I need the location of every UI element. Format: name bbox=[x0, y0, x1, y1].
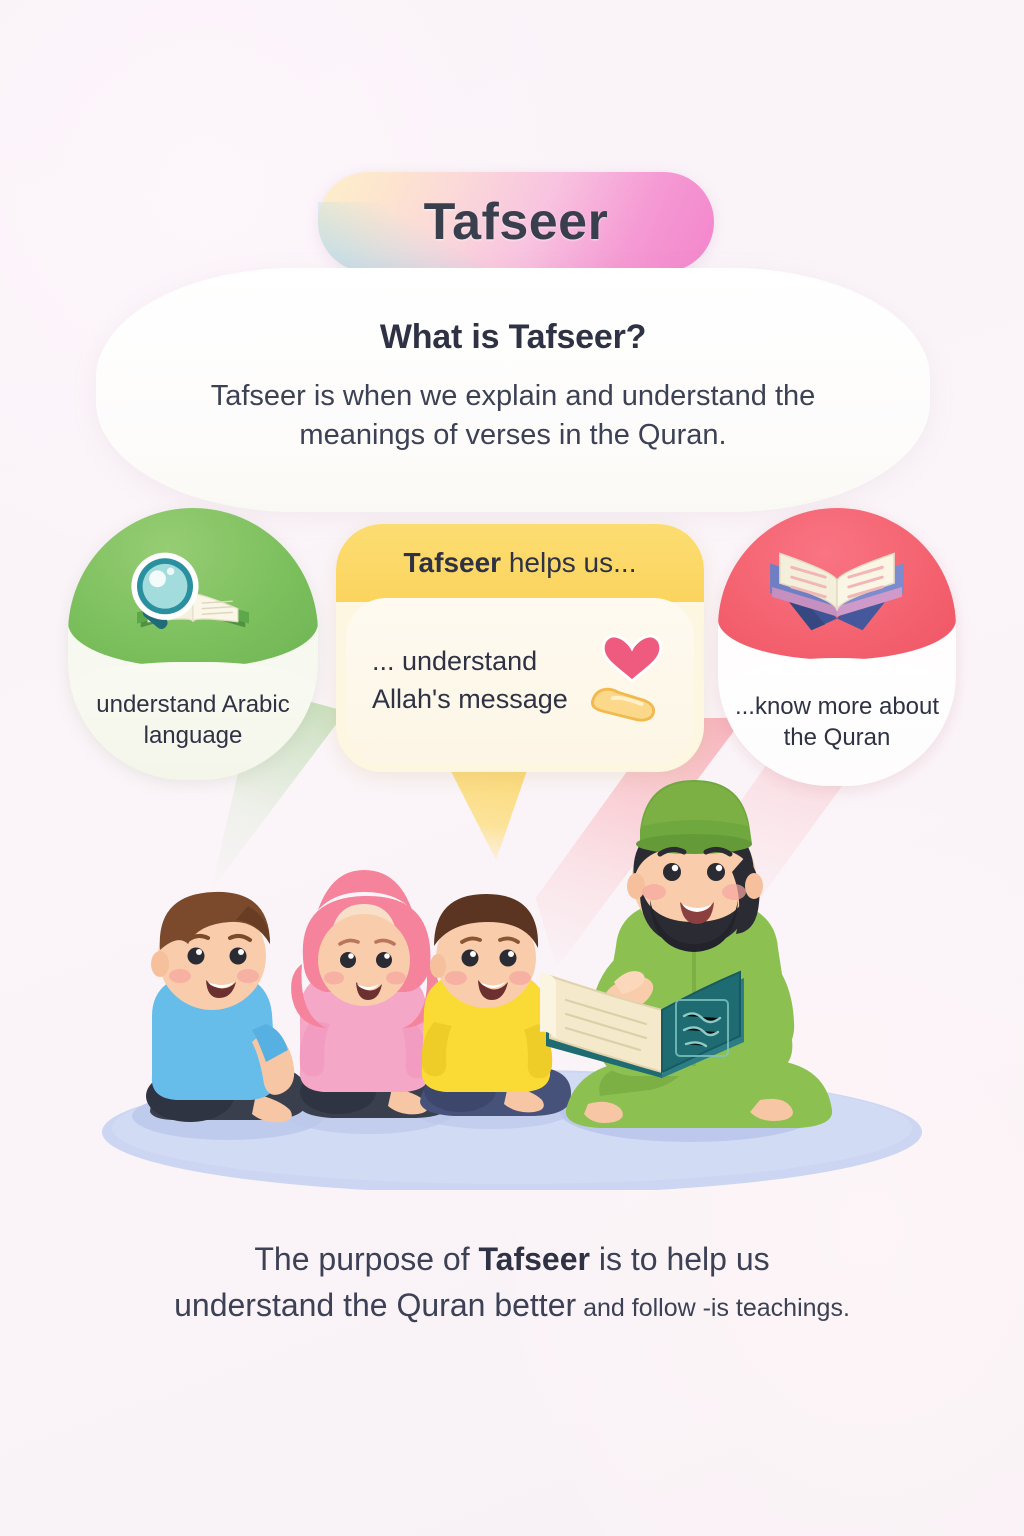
footer-line-2-main: understand the Quran better bbox=[174, 1287, 576, 1323]
card-allahs-message-header-text: Tafseer helps us... bbox=[404, 547, 637, 579]
card-arabic-language-label: understand Arabic language bbox=[68, 690, 318, 751]
card-know-the-quran-label: ...know more about the Quran bbox=[718, 691, 956, 753]
card-allahs-message[interactable]: Tafseer helps us... ... understand Allah… bbox=[336, 524, 704, 772]
poster-canvas: Tafseer What is Tafseer? Tafseer is when… bbox=[0, 0, 1024, 1536]
card-allahs-message-header: Tafseer helps us... bbox=[336, 524, 704, 602]
card-allahs-message-body: ... understand Allah's message bbox=[346, 598, 694, 764]
footer-line-2: understand the Quran better and follow -… bbox=[80, 1282, 944, 1328]
footer-pre: The purpose of bbox=[254, 1241, 478, 1277]
card-arabic-language[interactable]: understand Arabic language bbox=[68, 508, 318, 780]
footer-post: is to help us bbox=[590, 1241, 770, 1277]
header-rest: helps us... bbox=[501, 547, 636, 578]
intro-heading: What is Tafseer? bbox=[380, 318, 646, 357]
footer-line-1: The purpose of Tafseer is to help us bbox=[80, 1236, 944, 1282]
footer-caption: The purpose of Tafseer is to help us und… bbox=[80, 1236, 944, 1329]
open-quran-on-rehal-icon bbox=[748, 524, 926, 648]
card-allahs-message-label: ... understand Allah's message bbox=[372, 643, 584, 719]
page-title: Tafseer bbox=[424, 192, 609, 252]
illustration-teacher-and-children bbox=[0, 760, 1024, 1190]
magnifying-glass-book-icon bbox=[94, 534, 292, 646]
intro-body: Tafseer is when we explain and understan… bbox=[173, 377, 853, 455]
card-know-the-quran[interactable]: ...know more about the Quran bbox=[718, 508, 956, 786]
card-know-the-quran-top bbox=[718, 508, 956, 660]
header-bold-word: Tafseer bbox=[404, 547, 502, 578]
figure-boy-blue-shirt bbox=[146, 892, 307, 1122]
title-banner: Tafseer bbox=[318, 172, 714, 272]
footer-line-2-small: and follow -is teachings. bbox=[576, 1294, 850, 1322]
footer-bold-word: Tafseer bbox=[479, 1241, 590, 1277]
heart-in-hand-icon bbox=[584, 631, 680, 731]
intro-bubble: What is Tafseer? Tafseer is when we expl… bbox=[96, 268, 930, 512]
card-arabic-language-top bbox=[68, 508, 318, 668]
